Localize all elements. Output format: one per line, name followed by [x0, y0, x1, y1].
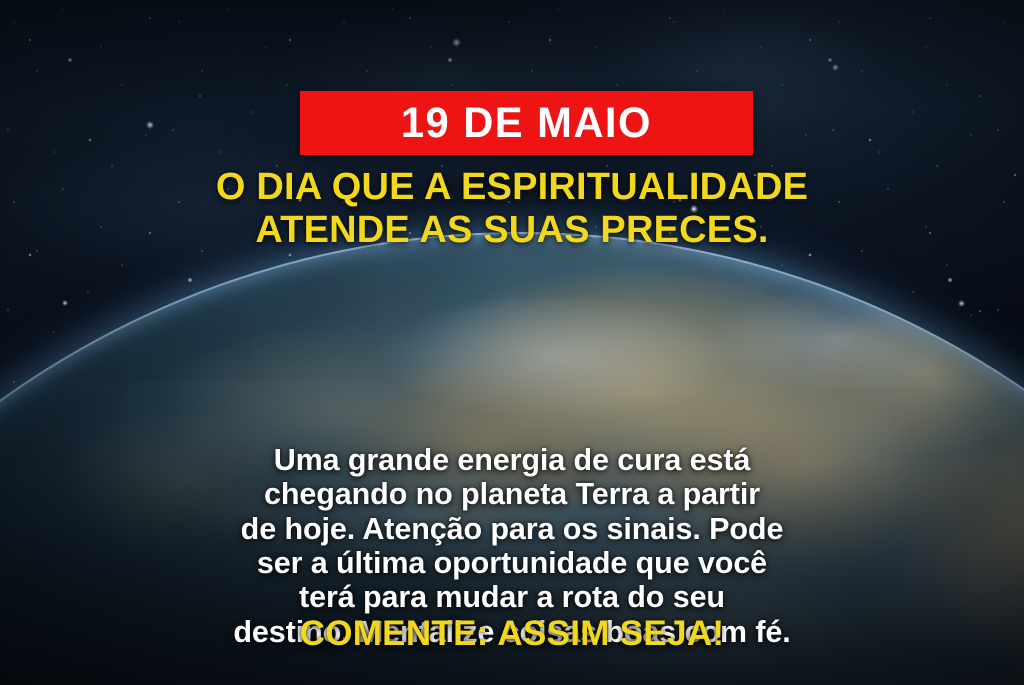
headline-line-1: O DIA QUE A ESPIRITUALIDADE — [44, 166, 980, 209]
poster-canvas: 19 DE MAIO O DIA QUE A ESPIRITUALIDADE A… — [0, 0, 1024, 685]
poster-content: 19 DE MAIO O DIA QUE A ESPIRITUALIDADE A… — [0, 0, 1024, 685]
call-to-action: COMENTE: ASSIM SEJA! — [0, 615, 1024, 654]
date-banner-label: 19 DE MAIO — [401, 102, 652, 145]
headline: O DIA QUE A ESPIRITUALIDADE ATENDE AS SU… — [0, 166, 1024, 252]
call-to-action-label: COMENTE: ASSIM SEJA! — [300, 614, 725, 653]
body-line-3: de hoje. Atenção para os sinais. Pode — [62, 512, 962, 546]
body-line-4: ser a última oportunidade que você — [62, 546, 962, 580]
body-line-1: Uma grande energia de cura está — [62, 443, 962, 477]
body-line-5: terá para mudar a rota do seu — [62, 580, 962, 614]
date-banner: 19 DE MAIO — [300, 91, 753, 155]
headline-line-2: ATENDE AS SUAS PRECES. — [44, 209, 980, 252]
body-line-2: chegando no planeta Terra a partir — [62, 477, 962, 511]
